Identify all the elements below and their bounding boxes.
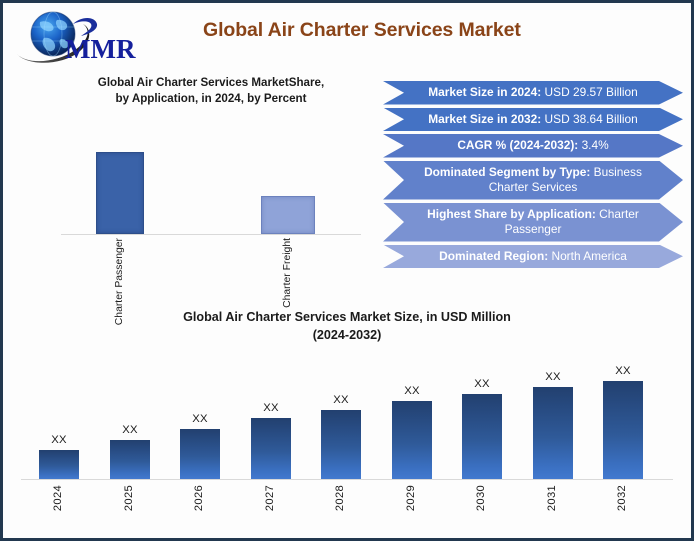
size-bar [462, 394, 502, 479]
size-category-label: 2029 [405, 485, 417, 511]
header: MMR Global Air Charter Services Market [3, 3, 691, 71]
metric-banner-label: Dominated Region: [439, 249, 548, 263]
metric-banner: CAGR % (2024-2032): 3.4% [383, 134, 683, 158]
infographic-frame: MMR Global Air Charter Services Market G… [0, 0, 694, 541]
metric-banner-value: USD 29.57 Billion [541, 85, 638, 99]
size-category-label: 2030 [475, 485, 487, 511]
size-category-label: 2024 [52, 485, 64, 511]
size-bar-value-label: XX [39, 434, 79, 446]
metric-banner-label: Dominated Segment by Type: [424, 165, 590, 179]
size-bar-value-label: XX [110, 424, 150, 436]
size-bar [533, 387, 573, 479]
share-title-line1: Global Air Charter Services MarketShare, [98, 76, 324, 89]
size-category-label: 2026 [193, 485, 205, 511]
market-share-chart: Global Air Charter Services MarketShare,… [61, 75, 371, 275]
metric-banner-value: North America [548, 249, 627, 263]
size-bar [603, 381, 643, 479]
metric-banner: Highest Share by Application: Charter Pa… [383, 203, 683, 242]
size-category-label: 2028 [334, 485, 346, 511]
size-bar-value-label: XX [392, 385, 432, 397]
market-share-plot-area [61, 117, 361, 235]
metric-banner: Market Size in 2024: USD 29.57 Billion [383, 81, 683, 105]
key-metrics-banner-list: Market Size in 2024: USD 29.57 BillionMa… [383, 81, 691, 271]
size-bar-value-label: XX [462, 378, 502, 390]
size-category-label: 2031 [546, 485, 558, 511]
mmr-logo: MMR [13, 8, 159, 66]
metric-banner-label: CAGR % (2024-2032): [457, 138, 578, 152]
share-bar-charter-freight [261, 196, 315, 234]
market-size-chart-title: Global Air Charter Services Market Size,… [13, 308, 681, 344]
share-title-line2: by Application, in 2024, by Percent [116, 92, 307, 105]
market-share-axis-line [61, 234, 361, 235]
size-bar [39, 450, 79, 479]
metric-banner-label: Market Size in 2024: [428, 85, 541, 99]
metric-banner-value: USD 38.64 Billion [541, 112, 638, 126]
size-bar-value-label: XX [603, 365, 643, 377]
size-bar-value-label: XX [533, 371, 573, 383]
size-category-label: 2025 [123, 485, 135, 511]
size-bar-value-label: XX [180, 413, 220, 425]
size-bar [321, 410, 361, 479]
market-share-chart-title: Global Air Charter Services MarketShare,… [61, 75, 361, 106]
size-bar [392, 401, 432, 479]
metric-banner-label: Market Size in 2032: [428, 112, 541, 126]
size-title-line2: (2024-2032) [313, 328, 382, 342]
metric-banner-label: Highest Share by Application: [427, 207, 596, 221]
page-title: Global Air Charter Services Market [203, 19, 623, 42]
globe-swoosh-logo: MMR [13, 8, 159, 66]
market-size-axis-line [21, 479, 673, 480]
size-category-label: 2027 [264, 485, 276, 511]
metric-banner: Dominated Segment by Type: Business Char… [383, 161, 683, 200]
size-category-label: 2032 [616, 485, 628, 511]
market-size-chart: Global Air Charter Services Market Size,… [13, 308, 681, 533]
size-bar [180, 429, 220, 479]
size-title-line1: Global Air Charter Services Market Size,… [183, 310, 511, 324]
market-size-plot-area: XXXXXXXXXXXXXXXXXX [13, 350, 681, 480]
share-category-label: Charter Freight [282, 238, 295, 308]
size-bar-value-label: XX [321, 394, 361, 406]
metric-banner: Market Size in 2032: USD 38.64 Billion [383, 108, 683, 132]
logo-text: MMR [65, 34, 136, 64]
size-bar-value-label: XX [251, 402, 291, 414]
metric-banner-value: 3.4% [578, 138, 608, 152]
metric-banner: Dominated Region: North America [383, 245, 683, 269]
size-bar [251, 418, 291, 479]
share-bar-charter-passenger [96, 152, 144, 234]
size-bar [110, 440, 150, 479]
